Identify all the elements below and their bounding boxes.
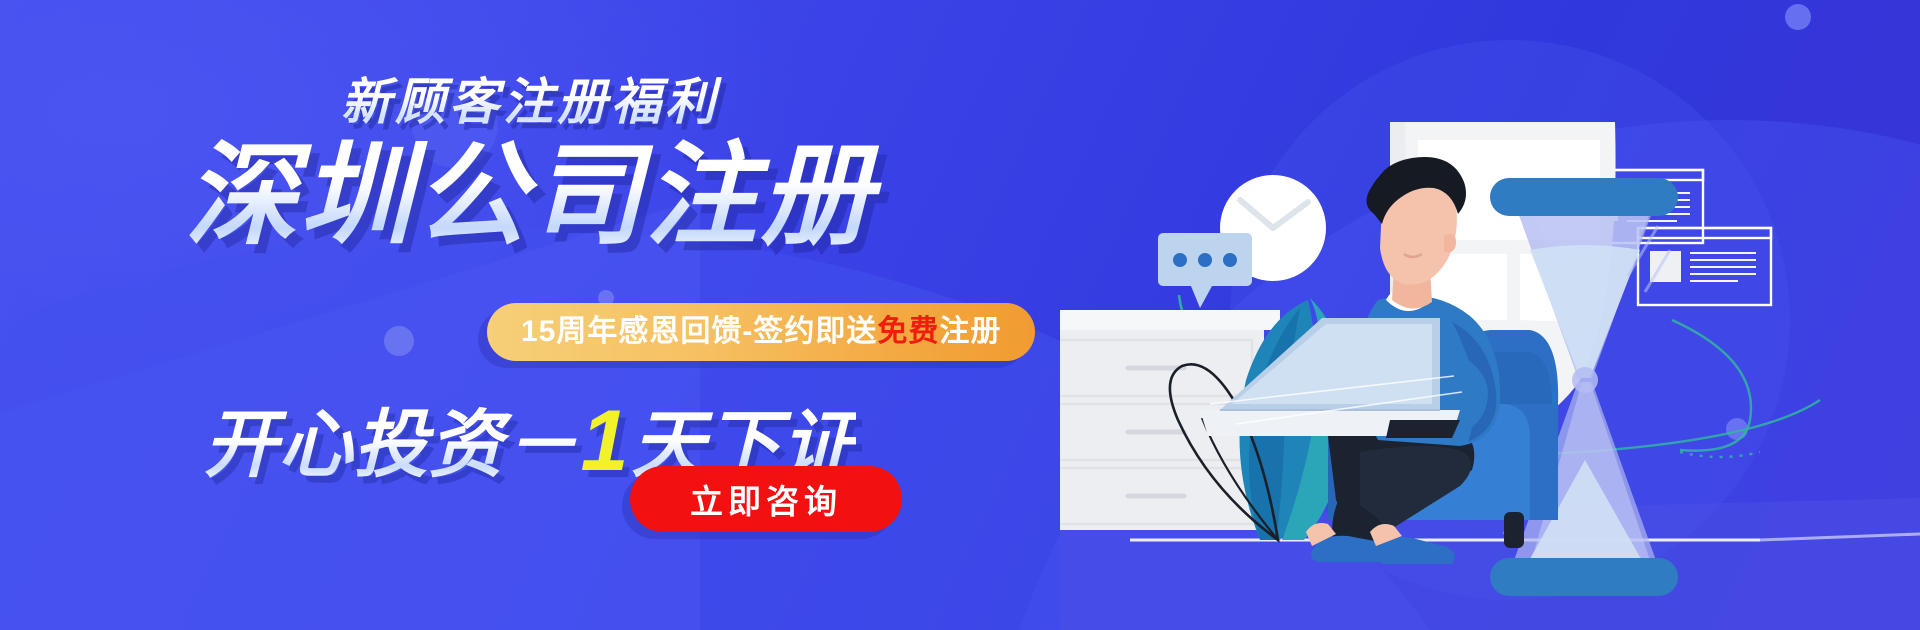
promo-prefix: 15周年感恩回馈-签约即送 <box>521 317 877 347</box>
consult-now-button[interactable]: 立即咨询 <box>630 466 902 532</box>
promo-pill: 15周年感恩回馈-签约即送 免费 注册 <box>487 303 1035 361</box>
promo-banner: 新顾客注册福利 深圳公司注册 15周年感恩回馈-签约即送 免费 注册 开心投资－… <box>0 0 1920 630</box>
hourglass-cap-bottom <box>1490 558 1678 596</box>
document-card-front <box>1638 228 1771 305</box>
banner-copy: 新顾客注册福利 深圳公司注册 15周年感恩回馈-签约即送 免费 注册 开心投资－… <box>0 0 1120 630</box>
promo-highlight: 免费 <box>877 317 939 347</box>
promo-suffix: 注册 <box>939 317 1001 347</box>
hourglass-cap-top <box>1490 178 1678 216</box>
page-title: 深圳公司注册 <box>0 130 1060 262</box>
chat-bubble-icon <box>1158 233 1252 308</box>
tagline-number: 1 <box>579 393 632 489</box>
tagline: 开心投资－1天下证 <box>0 385 1060 492</box>
eyebrow-text: 新顾客注册福利 <box>0 62 1060 134</box>
hero-illustration <box>1060 0 1920 630</box>
tagline-prefix: 开心投资－ <box>204 403 579 486</box>
